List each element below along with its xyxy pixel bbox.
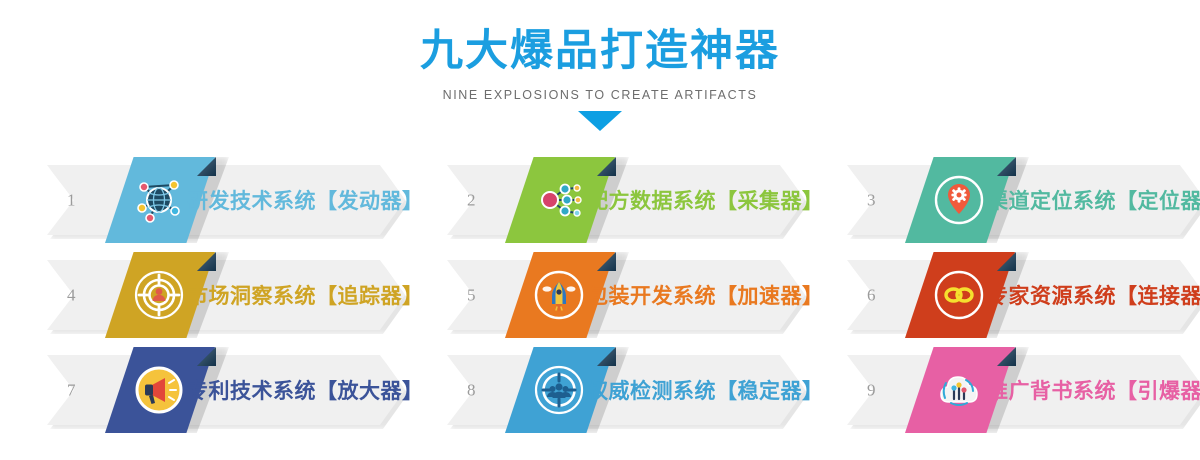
item-banner-7[interactable]: 7 专利技术系统【放大器】 <box>47 355 405 425</box>
infographic-header: 九大爆品打造神器 NINE EXPLOSIONS TO CREATE ARTIF… <box>0 0 1200 131</box>
item-number: 5 <box>467 287 476 304</box>
item-banner-2[interactable]: 2 配方数据系统【采集器】 <box>447 165 805 235</box>
item-label: 渠道定位系统【定位器】 <box>987 185 1200 215</box>
item-number: 2 <box>467 192 476 209</box>
item-banner-3[interactable]: 3 <box>847 165 1200 235</box>
item-label: 包装开发系统【加速器】 <box>587 280 824 310</box>
item-label: 研发技术系统【发动器】 <box>187 185 424 215</box>
item-number: 8 <box>467 382 476 399</box>
page-title: 九大爆品打造神器 <box>0 26 1200 77</box>
item-number: 6 <box>867 287 876 304</box>
grid-cell: 8 权威检测系统【稳定器】 <box>400 345 800 440</box>
grid-cell: 7 专利技术系统【放大器】 <box>0 345 400 440</box>
triangle-down-icon <box>578 111 622 131</box>
item-banner-8[interactable]: 8 权威检测系统【稳定器】 <box>447 355 805 425</box>
item-number: 9 <box>867 382 876 399</box>
item-banner-1[interactable]: 1 研发技术系统【发动器】 <box>47 165 405 235</box>
items-grid: 1 研发技术系统【发动器】 <box>0 155 1200 440</box>
item-label: 配方数据系统【采集器】 <box>587 185 824 215</box>
item-number: 3 <box>867 192 876 209</box>
item-banner-9[interactable]: 9 推广背书系统【引爆器】 <box>847 355 1200 425</box>
item-label: 权威检测系统【稳定器】 <box>587 375 824 405</box>
item-banner-4[interactable]: 4 市场洞察系统【追踪器】 <box>47 260 405 330</box>
item-number: 4 <box>67 287 76 304</box>
page-subtitle: NINE EXPLOSIONS TO CREATE ARTIFACTS <box>0 88 1200 102</box>
grid-cell: 1 研发技术系统【发动器】 <box>0 155 400 250</box>
item-number: 7 <box>67 382 76 399</box>
grid-cell: 6 专家资源系统【连接器】 <box>800 250 1200 345</box>
item-label: 推广背书系统【引爆器】 <box>987 375 1200 405</box>
grid-cell: 3 <box>800 155 1200 250</box>
item-label: 市场洞察系统【追踪器】 <box>187 280 424 310</box>
item-label: 专利技术系统【放大器】 <box>187 375 424 405</box>
grid-cell: 5 包装开发系统【加速器】 <box>400 250 800 345</box>
grid-cell: 9 推广背书系统【引爆器】 <box>800 345 1200 440</box>
item-number: 1 <box>67 192 76 209</box>
item-banner-5[interactable]: 5 包装开发系统【加速器】 <box>447 260 805 330</box>
grid-cell: 2 配方数据系统【采集器】 <box>400 155 800 250</box>
item-banner-6[interactable]: 6 专家资源系统【连接器】 <box>847 260 1200 330</box>
grid-cell: 4 市场洞察系统【追踪器】 <box>0 250 400 345</box>
item-label: 专家资源系统【连接器】 <box>987 280 1200 310</box>
